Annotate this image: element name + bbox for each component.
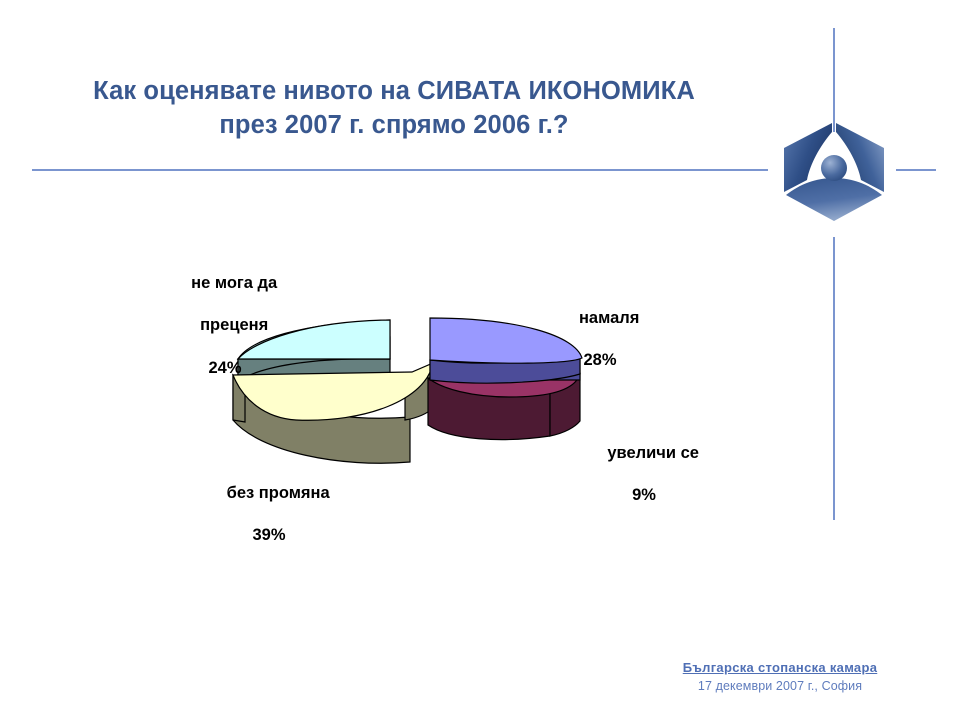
slide-footer: Българска стопанска камара 17 декември 2… <box>620 659 940 693</box>
pie-label-text: намаля <box>579 309 639 327</box>
pie-label-text-line2: преценя <box>200 316 268 334</box>
pie-label-value: 24% <box>150 358 300 379</box>
pie-label-bez-promyana: без промяна 39% <box>190 462 348 589</box>
organization-link[interactable]: Българска стопанска камара <box>683 660 878 675</box>
pie-label-namalya: намаля 28% <box>520 287 680 414</box>
title-divider-right <box>896 169 936 171</box>
vertical-rule-top <box>833 28 835 132</box>
pie-label-uvelichi-se: увеличи се 9% <box>568 422 720 549</box>
pie-label-value: 9% <box>568 485 720 506</box>
page-title: Как оценявате нивото на СИВАТА ИКОНОМИКА… <box>34 74 754 142</box>
title-line-1: Как оценявате нивото на СИВАТА ИКОНОМИКА <box>34 74 754 108</box>
pie-label-text: увеличи се <box>607 444 699 462</box>
organization-logo-icon <box>780 118 888 226</box>
pie-label-ne-moga-da-precenya: не мога да преценя 24% <box>150 252 300 421</box>
title-divider-left <box>32 169 768 171</box>
pie-label-value: 39% <box>190 525 348 546</box>
title-line-2: през 2007 г. спрямо 2006 г.? <box>34 108 754 142</box>
pie-label-text-line1: не мога да <box>191 274 277 292</box>
slide-canvas: Как оценявате нивото на СИВАТА ИКОНОМИКА… <box>0 0 960 720</box>
pie-label-value: 28% <box>520 350 680 371</box>
pie-label-text: без промяна <box>227 484 330 502</box>
footer-date-place: 17 декември 2007 г., София <box>620 679 940 693</box>
vertical-rule-bottom <box>833 237 835 520</box>
